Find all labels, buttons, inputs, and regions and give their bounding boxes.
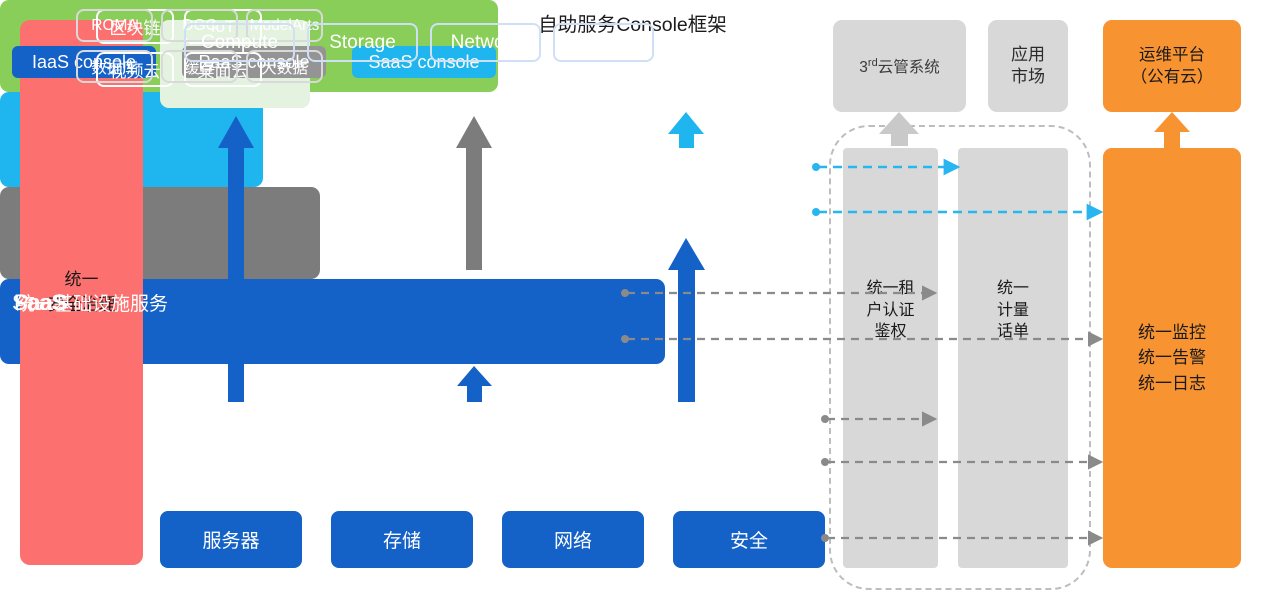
arrow-ops-right-to-ops-platform <box>1154 112 1190 148</box>
shared-column-metering <box>958 148 1068 568</box>
infra-service-network[interactable]: Network <box>430 23 541 62</box>
ops-platform-label: 运维平台 （公有云） <box>1131 44 1214 89</box>
unified-monitoring-panel: 统一监控 统一告警 统一日志 <box>1103 148 1241 568</box>
resource-label: 存储 <box>383 526 421 553</box>
infrastructure-label: 统一基础设施服务 <box>16 0 168 605</box>
unified-monitoring-label: 统一监控 统一告警 统一日志 <box>1138 320 1206 397</box>
unified-infrastructure-service-bar: 统一基础设施服务 Compute Storage Network CCE <box>0 279 665 364</box>
infra-service-compute[interactable]: Compute <box>184 23 295 62</box>
resource-label: 服务器 <box>202 526 259 553</box>
architecture-diagram: 统一 安全治理 API网关 自助服务Console框架 IaaS console… <box>0 0 1265 605</box>
shared-column-tenant-auth-label: 统一租 户认证 鉴权 <box>843 278 938 343</box>
shared-column-tenant-auth <box>843 148 938 568</box>
third-party-label: 3rd云管系统 <box>859 55 939 77</box>
arrow-paas-to-console <box>456 116 492 270</box>
third-party-cloud-mgmt-box: 3rd云管系统 <box>833 20 966 112</box>
arrow-infra-to-saas <box>668 238 705 402</box>
infra-service-storage[interactable]: Storage <box>307 23 418 62</box>
resource-label: 网络 <box>554 526 592 553</box>
resource-box-server: 服务器 <box>160 511 302 568</box>
resource-box-security: 安全 <box>673 511 825 568</box>
app-market-box: 应用 市场 <box>988 20 1068 112</box>
infra-chip-label: Network <box>451 32 521 54</box>
ops-platform-public-cloud-box: 运维平台 （公有云） <box>1103 20 1241 112</box>
infra-service-cce[interactable]: CCE <box>553 23 654 62</box>
infra-chip-label: Compute <box>201 32 278 54</box>
infra-chip-label: CCE <box>583 32 623 54</box>
resource-label: 安全 <box>730 526 768 553</box>
infra-chip-label: Storage <box>329 32 396 54</box>
shared-column-metering-label: 统一 计量 话单 <box>958 278 1068 343</box>
resource-box-storage: 存储 <box>331 511 473 568</box>
resource-box-network: 网络 <box>502 511 644 568</box>
arrow-infra-to-paas <box>457 366 492 402</box>
app-market-label: 应用 市场 <box>1011 44 1045 88</box>
arrow-saas-to-saas-console <box>668 112 704 148</box>
